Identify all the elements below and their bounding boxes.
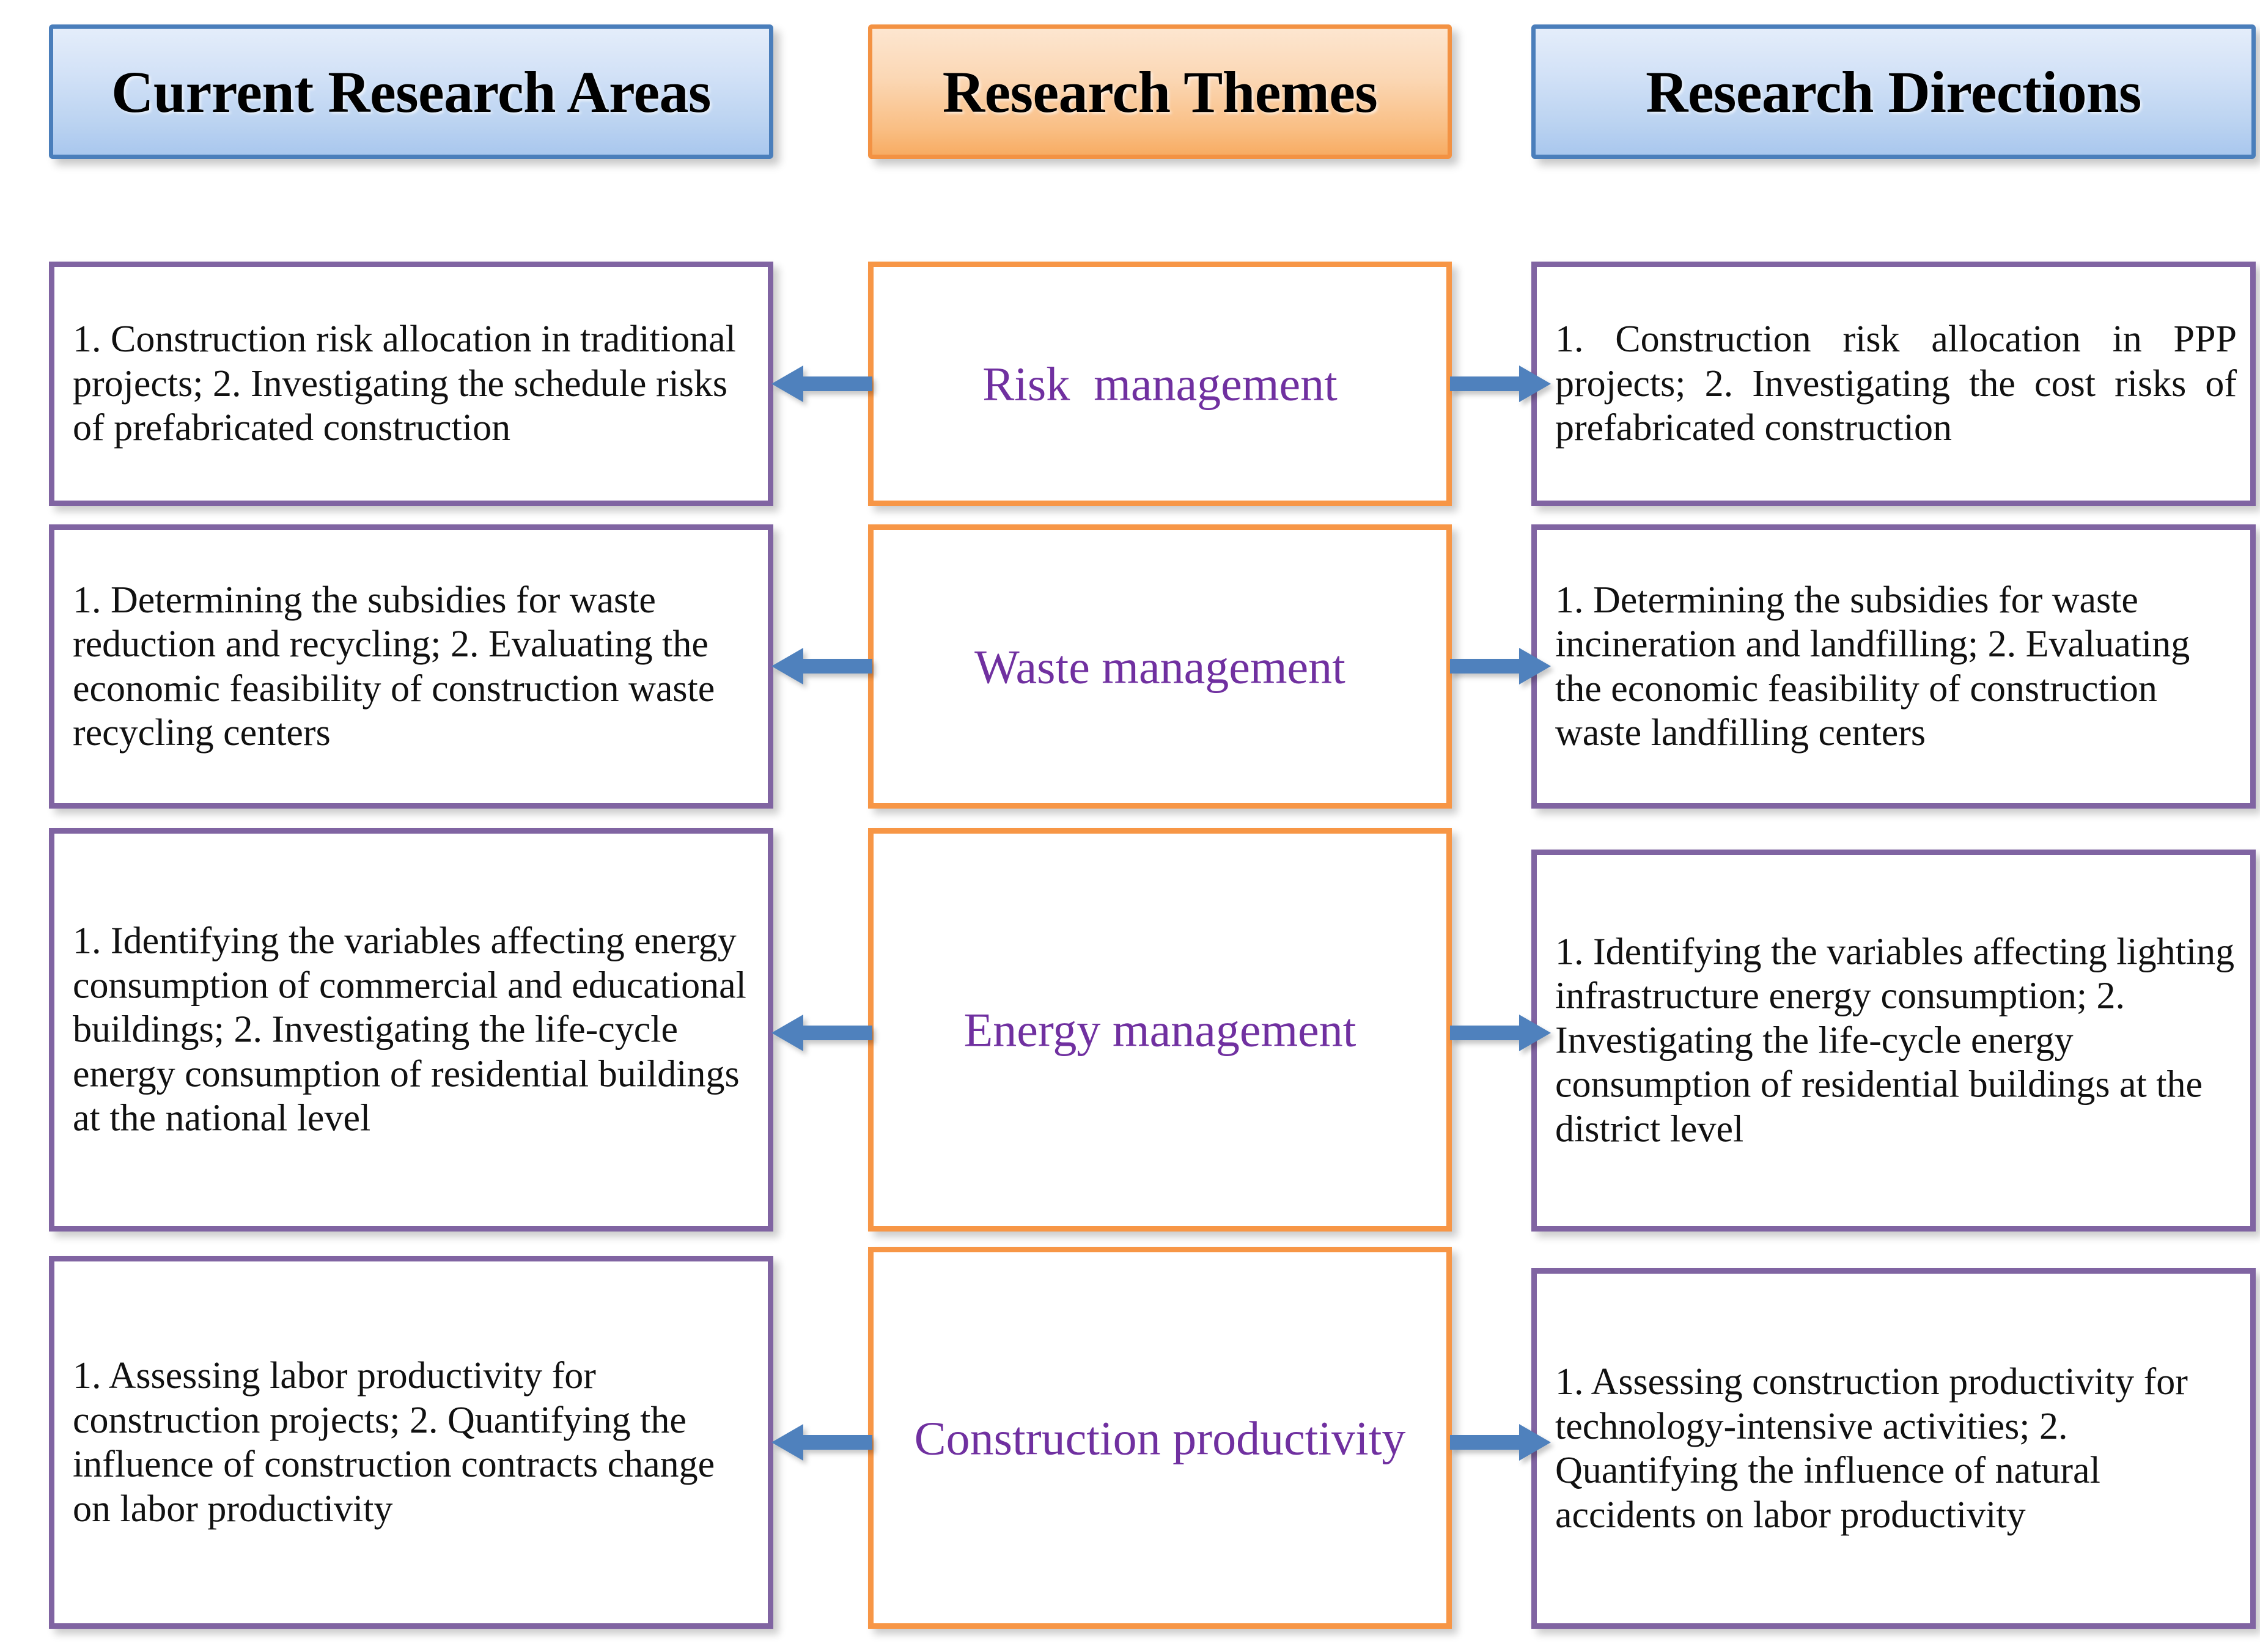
research-theme-box: Risk management (868, 262, 1452, 506)
current-research-area-text: 1. Construction risk allocation in tradi… (73, 317, 754, 450)
research-framework-diagram: Current Research Areas Research Themes R… (0, 0, 2260, 1652)
research-direction-text: 1. Assessing construction productivity f… (1555, 1360, 2237, 1537)
research-theme-label: Energy management (881, 1000, 1439, 1059)
research-theme-box: Waste management (868, 524, 1452, 809)
arrow-left-icon (771, 362, 872, 405)
header-label: Research Themes (943, 58, 1378, 126)
current-research-area-text: 1. Identifying the variables affecting e… (73, 919, 754, 1141)
current-research-area-box: 1. Assessing labor productivity for cons… (49, 1256, 773, 1629)
header-label: Research Directions (1646, 58, 2141, 126)
current-research-area-box: 1. Identifying the variables affecting e… (49, 828, 773, 1232)
arrow-right-icon (1450, 645, 1551, 688)
arrow-left-icon (771, 1421, 872, 1464)
research-direction-box: 1. Identifying the variables affecting l… (1531, 850, 2256, 1232)
research-direction-text: 1. Identifying the variables affecting l… (1555, 930, 2237, 1151)
arrow-left-icon (771, 645, 872, 688)
research-theme-label: Construction productivity (881, 1409, 1439, 1467)
research-theme-box: Energy management (868, 828, 1452, 1232)
research-theme-box: Construction productivity (868, 1247, 1452, 1629)
research-theme-label: Waste management (881, 637, 1439, 696)
header-label: Current Research Areas (111, 58, 711, 126)
header-research-themes: Research Themes (868, 24, 1452, 159)
current-research-area-box: 1. Determining the subsidies for waste r… (49, 524, 773, 809)
arrow-right-icon (1450, 1421, 1551, 1464)
research-theme-label: Risk management (881, 354, 1439, 413)
current-research-area-text: 1. Assessing labor productivity for cons… (73, 1354, 754, 1531)
research-direction-box: 1. Assessing construction productivity f… (1531, 1268, 2256, 1629)
current-research-area-box: 1. Construction risk allocation in tradi… (49, 262, 773, 506)
research-direction-text: 1. Construction risk allocation in PPP p… (1555, 317, 2237, 450)
arrow-right-icon (1450, 1011, 1551, 1054)
header-current-research-areas: Current Research Areas (49, 24, 773, 159)
header-research-directions: Research Directions (1531, 24, 2256, 159)
arrow-left-icon (771, 1011, 872, 1054)
current-research-area-text: 1. Determining the subsidies for waste r… (73, 578, 754, 755)
research-direction-box: 1. Construction risk allocation in PPP p… (1531, 262, 2256, 506)
research-direction-box: 1. Determining the subsidies for waste i… (1531, 524, 2256, 809)
research-direction-text: 1. Determining the subsidies for waste i… (1555, 578, 2237, 755)
arrow-right-icon (1450, 362, 1551, 405)
